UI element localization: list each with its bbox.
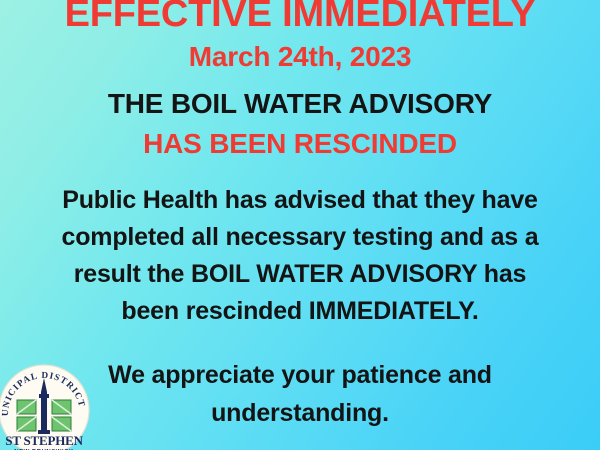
logo-name-text: ST STEPHEN — [5, 433, 83, 448]
st-stephen-seal-logo: MUNICIPAL DISTRICT OF — [0, 358, 96, 450]
notice-body-line: completed all necessary testing and as a — [0, 219, 600, 256]
public-notice-poster: EFFECTIVE IMMEDIATELY March 24th, 2023 T… — [0, 0, 600, 450]
notice-body-line: Public Health has advised that they have — [0, 182, 600, 219]
notice-body-line: result the BOIL WATER ADVISORY has — [0, 256, 600, 293]
notice-date: March 24th, 2023 — [0, 41, 600, 73]
advisory-subject: THE BOIL WATER ADVISORY — [0, 88, 600, 120]
advisory-status-text: HAS BEEN RESCINDED — [0, 128, 600, 160]
advisory-status: HAS BEEN RESCINDED — [0, 128, 600, 160]
notice-body: Public Health has advised that they have… — [0, 182, 600, 330]
headline-text: EFFECTIVE IMMEDIATELY — [0, 0, 600, 35]
headline-effective-immediately: EFFECTIVE IMMEDIATELY — [0, 0, 600, 35]
advisory-subject-text: THE BOIL WATER ADVISORY — [0, 88, 600, 120]
notice-date-text: March 24th, 2023 — [0, 41, 600, 73]
notice-body-line: been rescinded IMMEDIATELY. — [0, 293, 600, 330]
